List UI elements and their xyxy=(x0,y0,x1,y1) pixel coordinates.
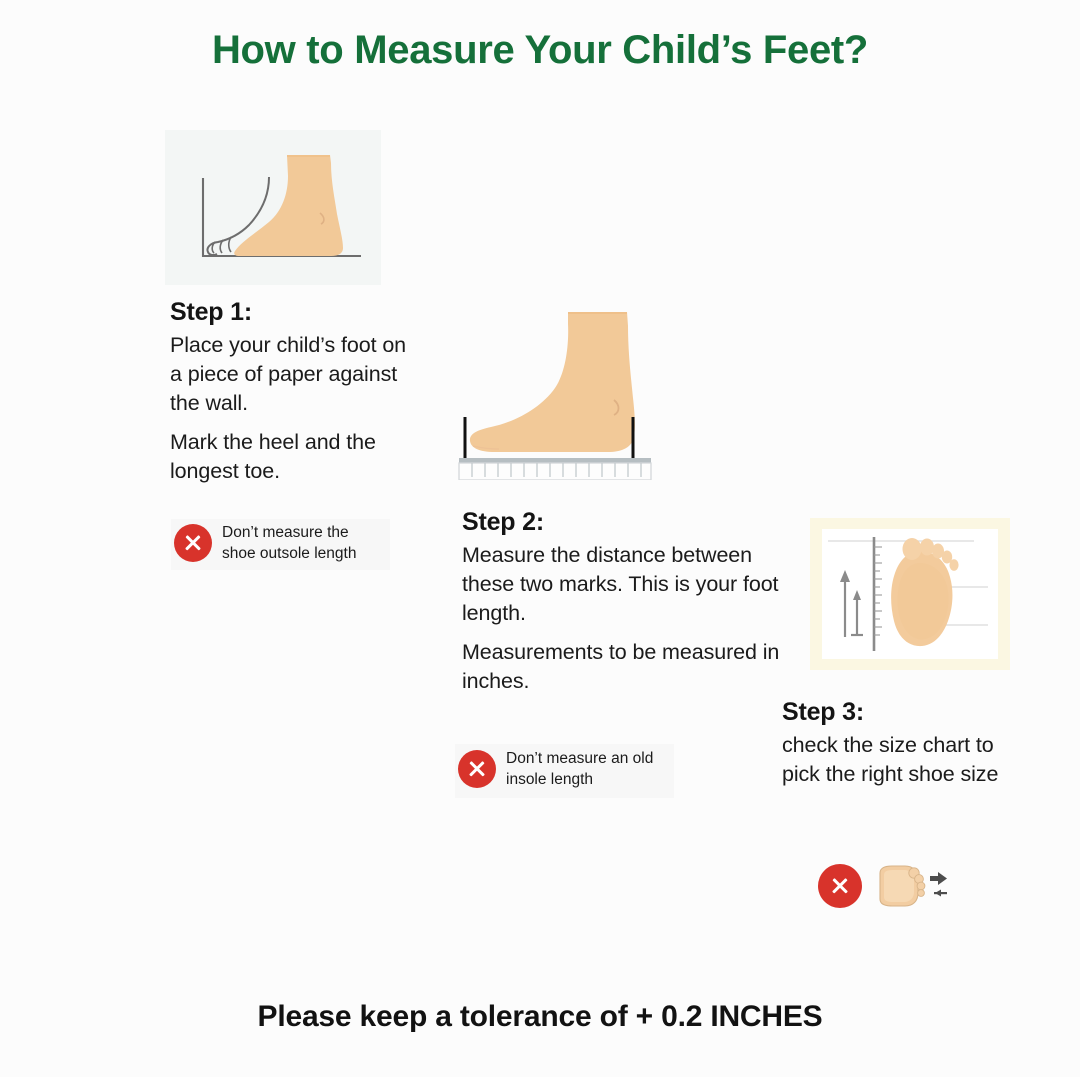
foot-sole-measure-icon xyxy=(872,863,948,911)
step3-warning xyxy=(818,862,988,911)
step3-text-block: Step 3: check the size chart to pick the… xyxy=(782,698,1032,789)
step1-illustration xyxy=(165,130,381,285)
red-cross-icon xyxy=(818,864,862,908)
step1-warning-text: Don’t measure the shoe outsole length xyxy=(222,522,384,564)
foot-on-ruler-icon xyxy=(455,300,685,480)
foot-sole-chart-icon xyxy=(822,529,998,659)
step2-warning: Don’t measure an old insole length xyxy=(455,744,674,798)
step1-body: Place your child’s foot on a piece of pa… xyxy=(170,331,420,486)
step3-line-1: check the size chart to pick the right s… xyxy=(782,731,1032,789)
page-title: How to Measure Your Child’s Feet? xyxy=(0,28,1080,73)
step2-illustration xyxy=(455,300,685,480)
arrow-up-short-icon xyxy=(851,595,863,635)
step2-line-2: Measurements to be measured in inches. xyxy=(462,638,782,696)
step1-heading: Step 1: xyxy=(170,298,420,327)
step2-heading: Step 2: xyxy=(462,508,782,537)
step1-text-block: Step 1: Place your child’s foot on a pie… xyxy=(170,298,420,486)
step1-line-1: Place your child’s foot on a piece of pa… xyxy=(170,331,420,418)
arrow-right-icon xyxy=(930,872,947,885)
step2-text-block: Step 2: Measure the distance between the… xyxy=(462,508,782,696)
arrow-left-icon xyxy=(934,890,947,897)
step3-heading: Step 3: xyxy=(782,698,1032,727)
red-cross-icon xyxy=(458,750,496,788)
size-chart-panel xyxy=(822,529,998,659)
step1-line-2: Mark the heel and the longest toe. xyxy=(170,428,420,486)
step3-illustration xyxy=(810,518,1010,670)
infographic-page: How to Measure Your Child’s Feet? Step 1… xyxy=(0,0,1080,1077)
step1-warning: Don’t measure the shoe outsole length xyxy=(171,519,390,570)
foot-against-wall-icon xyxy=(165,130,381,285)
step2-body: Measure the distance between these two m… xyxy=(462,541,782,696)
step2-warning-text: Don’t measure an old insole length xyxy=(506,748,668,790)
tolerance-note: Please keep a tolerance of + 0.2 INCHES xyxy=(0,1000,1080,1034)
step2-line-1: Measure the distance between these two m… xyxy=(462,541,782,628)
red-cross-icon xyxy=(174,524,212,562)
step3-body: check the size chart to pick the right s… xyxy=(782,731,1032,789)
arrow-up-head-icon xyxy=(840,570,850,582)
